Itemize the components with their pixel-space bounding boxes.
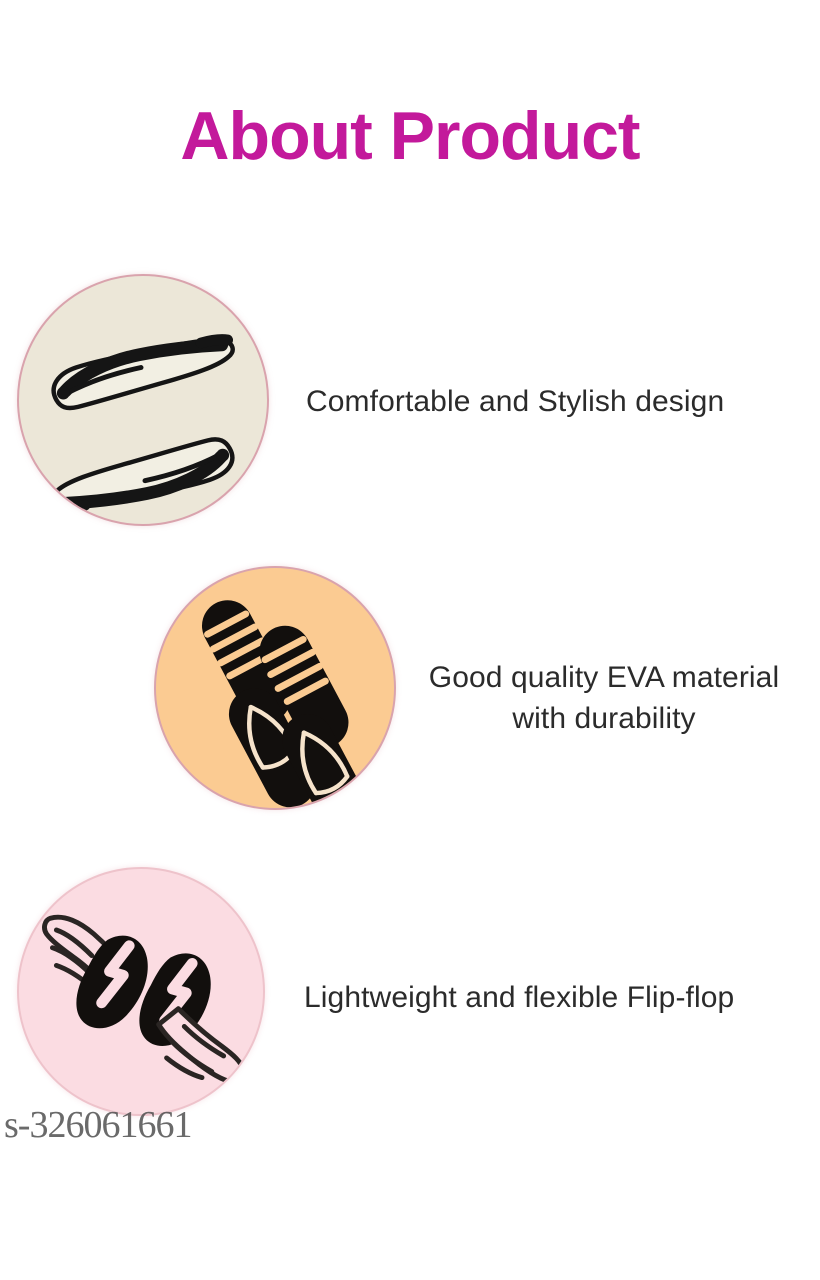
watermark-product-code: s-326061661 bbox=[4, 1104, 191, 1146]
feature-label-3-line-1: Lightweight and flexible Flip-flop bbox=[304, 977, 804, 1018]
winged-flip-flops-icon bbox=[17, 867, 265, 1116]
feature-label-3: Lightweight and flexible Flip-flop bbox=[304, 977, 804, 1018]
feature-label-1: Comfortable and Stylish design bbox=[306, 381, 806, 422]
feature-label-2: Good quality EVA material with durabilit… bbox=[399, 657, 809, 739]
feature-label-2-line-2: with durability bbox=[399, 698, 809, 739]
feature-label-1-line-1: Comfortable and Stylish design bbox=[306, 381, 806, 422]
two-pairs-sandals-icon bbox=[154, 566, 396, 810]
about-product-infographic: About Product bbox=[0, 0, 820, 1280]
feature-label-2-line-1: Good quality EVA material bbox=[399, 657, 809, 698]
page-title: About Product bbox=[0, 98, 820, 174]
crossed-flip-flops-icon bbox=[17, 274, 269, 526]
